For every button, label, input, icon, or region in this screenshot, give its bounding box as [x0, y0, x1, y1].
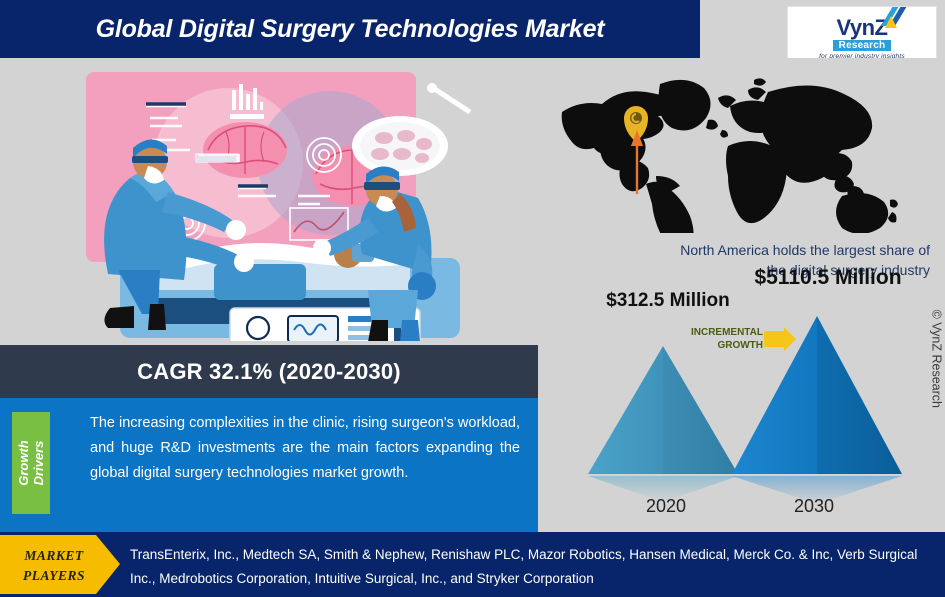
growth-drivers-badge: Growth Drivers — [12, 412, 50, 514]
logo-research-badge: Research — [833, 40, 892, 51]
infographic-canvas: Global Digital Surgery Technologies Mark… — [0, 0, 945, 597]
market-players-badge-line1: MARKET — [24, 548, 83, 563]
incremental-growth-line1: INCREMENTAL — [691, 327, 763, 338]
year-label-2020: 2020 — [606, 496, 726, 517]
value-label-2020: $312.5 Million — [578, 290, 758, 312]
brain-hologram-left — [203, 122, 287, 178]
growth-drivers-badge-inner: Growth Drivers — [16, 440, 46, 486]
map-caption-line1: North America holds the largest share of — [680, 242, 930, 258]
growth-drivers-badge-line1: Growth — [16, 440, 31, 486]
map-landmasses — [562, 78, 898, 233]
value-label-2030: $5110.5 Million — [718, 266, 938, 290]
vynz-research-logo[interactable]: VynZ Research for premier industry insig… — [787, 6, 937, 66]
world-map — [552, 68, 922, 233]
hologram-bar-3 — [196, 156, 236, 162]
market-players-list: TransEnterix, Inc., Medtech SA, Smith & … — [130, 543, 930, 591]
market-players-badge-line2: PLAYERS — [23, 568, 85, 583]
cagr-text: CAGR 32.1% (2020-2030) — [137, 359, 401, 385]
growth-drivers-text: The increasing complexities in the clini… — [90, 411, 520, 486]
incremental-growth-arrow-icon — [764, 327, 796, 351]
market-players-badge-label: MARKET PLAYERS — [6, 546, 102, 586]
incremental-growth-line2: GROWTH — [717, 340, 763, 351]
logo-wordmark-row: VynZ — [837, 12, 888, 39]
logo-arrow-icon — [877, 6, 907, 30]
regional-insight-panel: North America holds the largest share of… — [538, 58, 945, 532]
surgery-scene-svg — [0, 58, 538, 341]
digital-surgery-illustration — [0, 58, 538, 341]
page-title: Global Digital Surgery Technologies Mark… — [0, 0, 700, 58]
market-players-footer: MARKET PLAYERS TransEnterix, Inc., Medte… — [0, 532, 945, 597]
world-map-svg — [552, 68, 922, 233]
cagr-band: CAGR 32.1% (2020-2030) — [0, 345, 538, 398]
year-label-2030: 2030 — [754, 496, 874, 517]
incremental-growth-label: INCREMENTAL GROWTH — [663, 326, 763, 352]
growth-drivers-panel: Growth Drivers The increasing complexiti… — [0, 398, 538, 532]
market-size-chart: $312.5 Million $5110.5 Million — [538, 290, 945, 532]
copyright-text: © VynZ Research — [929, 310, 943, 408]
growth-drivers-badge-line2: Drivers — [31, 441, 46, 486]
